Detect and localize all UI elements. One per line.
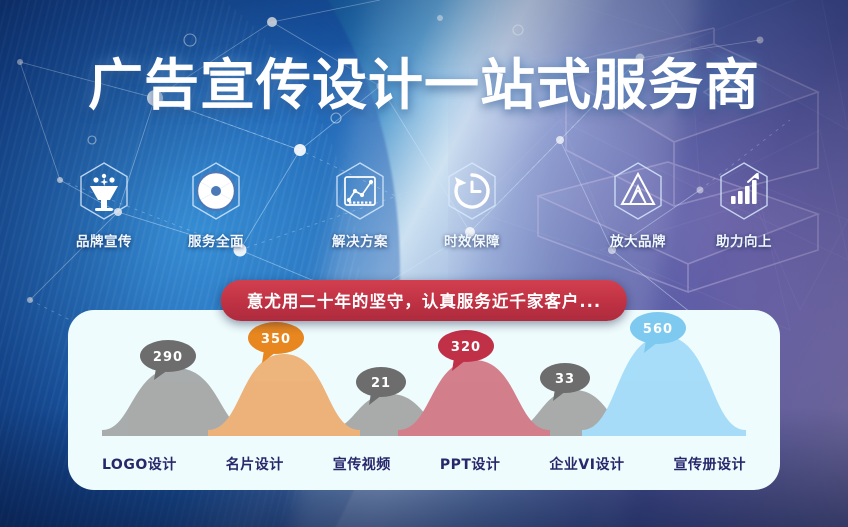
category-label-namecard: 名片设计 xyxy=(226,454,284,474)
feature-label: 时效保障 xyxy=(424,230,520,250)
value-label: 21 xyxy=(371,376,391,391)
value-label: 290 xyxy=(153,350,183,365)
chart-category-axis: LOGO设计 名片设计 宣传视频 PPT设计 企业VI设计 宣传册设计 xyxy=(68,454,780,474)
feature-label: 放大品牌 xyxy=(590,230,686,250)
tagline-ribbon: 意尤用二十年的坚守，认真服务近千家客户... xyxy=(221,280,627,321)
feature-icon-row: 品牌宣传 服务全面 xyxy=(0,160,848,250)
feature-label: 服务全面 xyxy=(168,230,264,250)
bar-chart-up-icon xyxy=(715,160,773,222)
statistics-panel: 290 350 21 320 33 xyxy=(68,310,780,490)
value-label: 320 xyxy=(451,340,481,355)
pyramid-triangle-icon xyxy=(609,160,667,222)
clock-history-icon xyxy=(443,160,501,222)
feature-label: 品牌宣传 xyxy=(56,230,152,250)
feature-item-amplify-brand[interactable]: 放大品牌 xyxy=(590,160,686,250)
hill-area-chart: 290 350 21 320 33 xyxy=(68,310,780,450)
feature-label: 助力向上 xyxy=(696,230,792,250)
hill-area-5 xyxy=(582,336,746,436)
value-label: 560 xyxy=(643,322,673,337)
hill-area-1 xyxy=(208,354,360,436)
category-label-logo: LOGO设计 xyxy=(102,454,177,474)
megaphone-icon xyxy=(75,160,133,222)
feature-item-boost-growth[interactable]: 助力向上 xyxy=(696,160,792,250)
feature-item-full-service[interactable]: 服务全面 xyxy=(168,160,264,250)
category-label-video: 宣传视频 xyxy=(333,454,391,474)
page-title: 广告宣传设计一站式服务商 xyxy=(0,58,848,113)
value-label: 33 xyxy=(555,372,575,387)
aperture-icon xyxy=(187,160,245,222)
value-label: 350 xyxy=(261,332,291,347)
feature-item-solutions[interactable]: 解决方案 xyxy=(312,160,408,250)
feature-item-timeliness[interactable]: 时效保障 xyxy=(424,160,520,250)
hill-area-3 xyxy=(398,360,550,436)
category-label-brochure: 宣传册设计 xyxy=(674,454,747,474)
category-label-vi: 企业VI设计 xyxy=(549,454,624,474)
feature-label: 解决方案 xyxy=(312,230,408,250)
category-label-ppt: PPT设计 xyxy=(440,454,501,474)
banner-canvas: 广告宣传设计一站式服务商 品牌宣传 xyxy=(0,0,848,527)
analytics-chart-icon xyxy=(331,160,389,222)
feature-item-brand-promotion[interactable]: 品牌宣传 xyxy=(56,160,152,250)
